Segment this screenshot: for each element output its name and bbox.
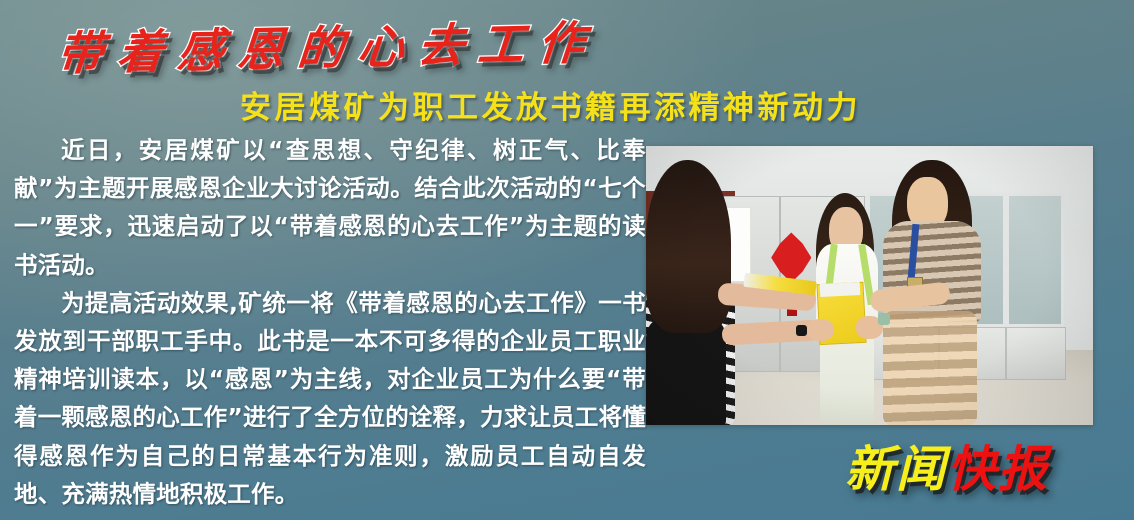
page-title: 带着感恩的心去工作 <box>55 6 602 83</box>
subheadline: 安居煤矿为职工发放书籍再添精神新动力 <box>240 82 861 127</box>
book-handover-photo <box>646 146 1093 425</box>
article-paragraph-2: 为提高活动效果,矿统一将《带着感恩的心去工作》一书发放到干部职工手中。此书是一本… <box>14 284 646 513</box>
photo-scene <box>646 146 1093 425</box>
news-poster: 带着感恩的心去工作 安居煤矿为职工发放书籍再添精神新动力 近日，安居煤矿以“查思… <box>0 0 1134 520</box>
article-paragraph-1: 近日，安居煤矿以“查思想、守纪律、树正气、比奉献”为主题开展感恩企业大讨论活动。… <box>14 131 646 284</box>
news-flash-badge: 新闻快报 <box>845 430 1049 501</box>
news-flash-badge-red: 快报 <box>947 441 1049 498</box>
photo-vignette <box>646 146 1093 425</box>
news-flash-badge-yellow: 新闻 <box>845 441 947 498</box>
article-body: 近日，安居煤矿以“查思想、守纪律、树正气、比奉献”为主题开展感恩企业大讨论活动。… <box>14 131 646 513</box>
